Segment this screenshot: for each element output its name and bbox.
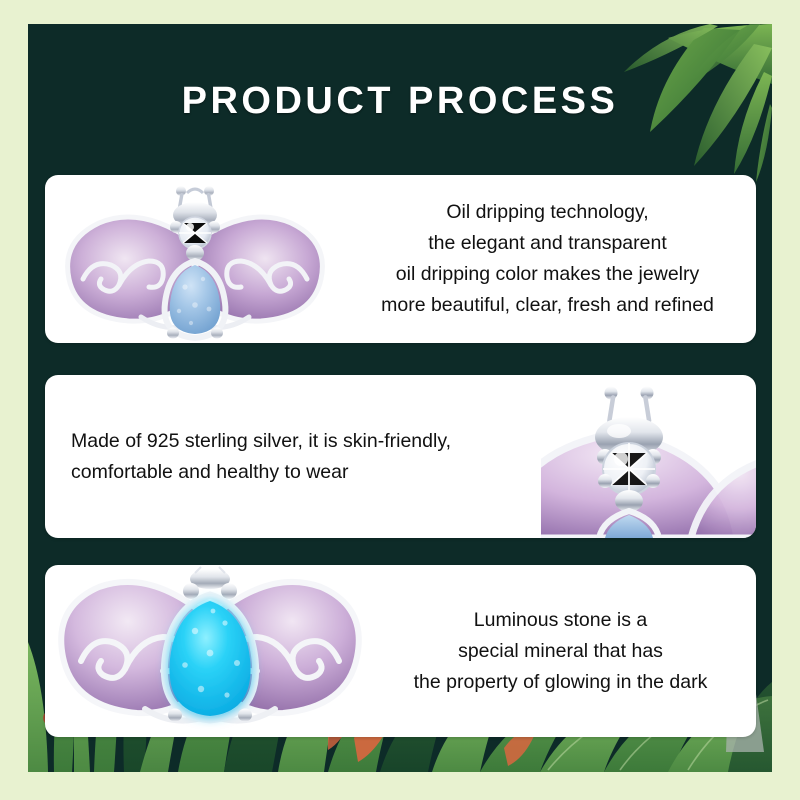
card-1-line-1: Oil dripping technology, [345, 197, 750, 228]
card-2-line-2: comfortable and healthy to wear [71, 457, 541, 488]
card-1-line-3: oil dripping color makes the jewelry [345, 259, 750, 290]
card-2-text: Made of 925 sterling silver, it is skin-… [45, 426, 541, 488]
card-3-line-3: the property of glowing in the dark [375, 667, 746, 698]
card-3-text: Luminous stone is a special mineral that… [375, 605, 756, 698]
card-1-line-4: more beautiful, clear, fresh and refined [345, 290, 750, 321]
moth-head-closeup-image [541, 375, 756, 538]
card-sterling-silver[interactable]: Made of 925 sterling silver, it is skin-… [45, 375, 756, 538]
card-3-line-1: Luminous stone is a [375, 605, 746, 636]
card-luminous-stone[interactable]: Luminous stone is a special mineral that… [45, 565, 756, 737]
cubic-zirconia-closeup [603, 443, 655, 495]
page-title: PRODUCT PROCESS [28, 80, 772, 123]
card-3-line-2: special mineral that has [375, 636, 746, 667]
moth-charm-image-1 [45, 175, 345, 343]
moth-charm-glowing-image [45, 565, 375, 737]
dark-panel: PRODUCT PROCESS [28, 24, 772, 772]
card-1-line-2: the elegant and transparent [345, 228, 750, 259]
card-1-text: Oil dripping technology, the elegant and… [345, 197, 756, 321]
cubic-zirconia-stone [179, 217, 211, 249]
infographic-root: PRODUCT PROCESS [0, 0, 800, 800]
card-oil-dripping[interactable]: Oil dripping technology, the elegant and… [45, 175, 756, 343]
card-2-line-1: Made of 925 sterling silver, it is skin-… [71, 426, 541, 457]
